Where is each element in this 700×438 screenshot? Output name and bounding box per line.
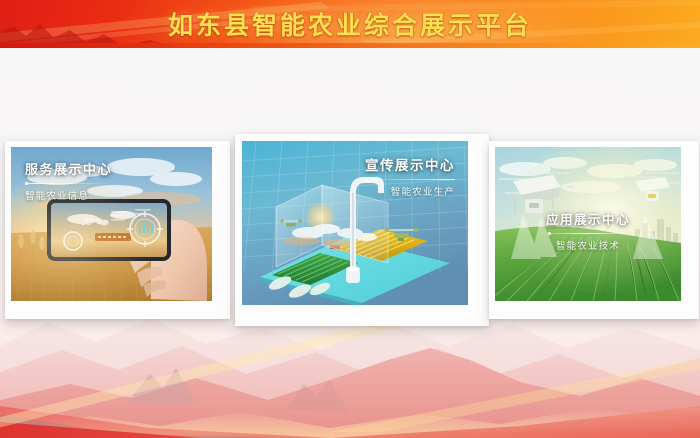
card-promotion-caption: 宣传展示中心 智能农业生产 [365, 154, 455, 198]
header-banner: 如东县智能农业综合展示平台 [0, 0, 700, 48]
card-service-image: 26° [11, 147, 212, 301]
card-application[interactable]: 应用展示中心 智能农业技术 [489, 141, 699, 319]
card-application-image: 应用展示中心 智能农业技术 [495, 147, 681, 301]
card-application-caption: 应用展示中心 智能农业技术 [495, 209, 681, 252]
card-application-subtitle: 智能农业技术 [495, 238, 681, 252]
caption-divider [542, 233, 634, 234]
caption-divider [365, 179, 455, 180]
card-promotion-subtitle: 智能农业生产 [365, 184, 455, 198]
caption-divider [25, 183, 111, 184]
card-promotion-title: 宣传展示中心 [365, 154, 455, 174]
card-promotion-image: 宣传展示中心 智能农业生产 [242, 141, 468, 305]
card-service-title: 服务展示中心 [25, 159, 112, 178]
page-title: 如东县智能农业综合展示平台 [0, 0, 700, 48]
card-promotion[interactable]: 宣传展示中心 智能农业生产 [235, 134, 489, 326]
card-service[interactable]: 26° [5, 141, 230, 319]
app-root: 如东县智能农业综合展示平台 [0, 0, 700, 438]
card-application-title: 应用展示中心 [495, 209, 681, 228]
card-service-caption: 服务展示中心 智能农业信息 [25, 159, 112, 202]
card-service-subtitle: 智能农业信息 [25, 188, 112, 202]
